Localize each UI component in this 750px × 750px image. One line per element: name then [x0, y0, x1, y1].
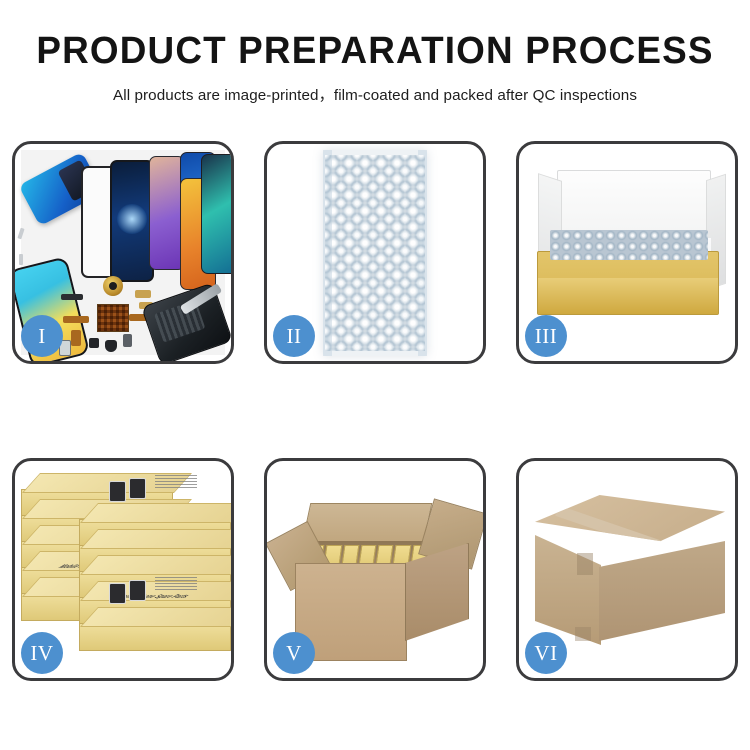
- step-panel-v: V: [264, 458, 486, 681]
- phone-print-icon: [109, 583, 126, 604]
- tray-front-face: [538, 278, 718, 314]
- step-panel-iv: Mobile Phone Spare Parts Mobile Phone Sp…: [12, 458, 234, 681]
- flex-cable-icon: [63, 316, 89, 323]
- inner-box-icon: [535, 170, 719, 315]
- phone-teal-display-icon: [201, 154, 231, 274]
- speaker-coil-icon: [103, 276, 123, 296]
- bubble-wrapped-units-icon: [550, 230, 708, 260]
- page-subtitle: All products are image-printed，film-coat…: [0, 83, 750, 105]
- small-component-icon: [89, 338, 99, 348]
- vibration-motor-icon: [123, 334, 132, 347]
- chip-grid-icon: [97, 304, 129, 332]
- step-badge-iii: III: [525, 315, 567, 357]
- step-panel-i: I: [12, 141, 234, 364]
- gold-connector-icon: [135, 290, 151, 298]
- flex-cable-icon: [71, 330, 81, 346]
- step-badge-ii: II: [273, 315, 315, 357]
- header: PRODUCT PREPARATION PROCESS All products…: [0, 0, 750, 105]
- step-badge-v: V: [273, 632, 315, 674]
- phone-print-icon: [109, 481, 126, 502]
- step-badge-i: I: [21, 315, 63, 357]
- process-step-grid: I II: [12, 141, 738, 681]
- step-panel-vi: VI: [516, 458, 738, 681]
- step-panel-ii: II: [264, 141, 486, 364]
- phone-lineup-icon: [81, 152, 231, 272]
- step-badge-iv: IV: [21, 632, 63, 674]
- spec-lines: [155, 577, 197, 591]
- camera-module-icon: [105, 340, 117, 352]
- step-panel-iii: III: [516, 141, 738, 364]
- carton-right-face: [599, 541, 725, 653]
- spec-lines: [155, 475, 197, 489]
- sealed-carton-icon: [535, 495, 725, 655]
- phone-blue-display-icon: [110, 160, 154, 282]
- retail-box: Mobile Phone Spare Parts: [79, 623, 231, 651]
- earpiece-part-icon: [61, 294, 83, 300]
- screw-icon: [19, 254, 23, 265]
- bubble-wrap-icon: [323, 150, 427, 356]
- page-title: PRODUCT PREPARATION PROCESS: [11, 32, 739, 70]
- carton-left-face: [535, 535, 601, 645]
- wrap-edge-left: [323, 150, 332, 356]
- kraft-tray-icon: [537, 251, 719, 315]
- infographic-page: PRODUCT PREPARATION PROCESS All products…: [0, 0, 750, 750]
- step-badge-vi: VI: [525, 632, 567, 674]
- phone-print-icon: [129, 478, 146, 499]
- wrap-edge-right: [418, 150, 427, 356]
- carton-seam: [577, 553, 593, 575]
- phone-print-icon: [129, 580, 146, 601]
- retail-box-lid: Mobile Phone Spare Parts: [80, 607, 231, 627]
- carton-seam: [575, 627, 591, 641]
